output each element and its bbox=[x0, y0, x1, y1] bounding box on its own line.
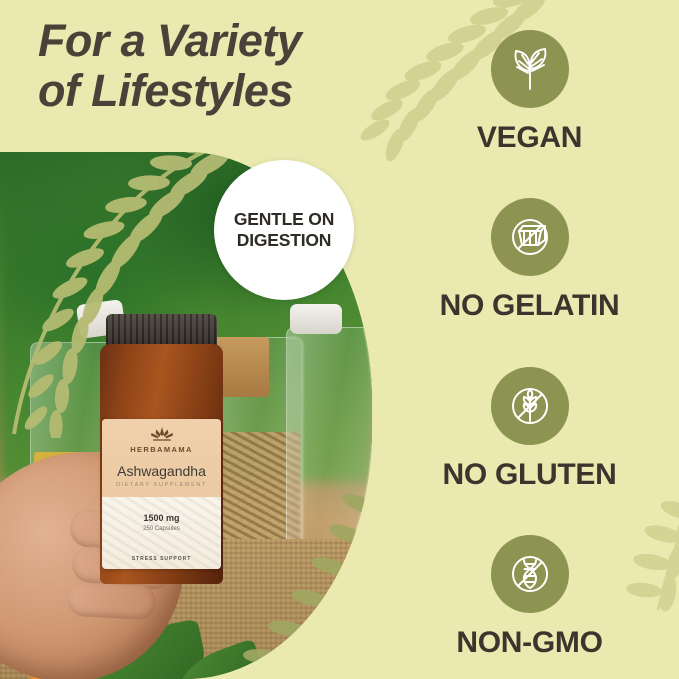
feature-badge-no-gluten bbox=[491, 367, 569, 445]
label-capsule-count: 250 Capsules bbox=[102, 526, 221, 532]
headline-line-2: of Lifestyles bbox=[38, 66, 368, 116]
gentle-on-digestion-badge: GENTLE ON DIGESTION bbox=[214, 160, 354, 300]
poster: For a Variety of Lifestyles bbox=[0, 0, 679, 679]
feature-label-no-gelatin: NO GELATIN bbox=[440, 289, 620, 323]
feature-no-gelatin: NO GELATIN bbox=[440, 198, 620, 323]
jar-stopper bbox=[290, 304, 342, 334]
feature-badge-non-gmo bbox=[491, 535, 569, 613]
feature-label-non-gmo: NON-GMO bbox=[456, 626, 602, 660]
feature-list: VEGAN NO GELATIN bbox=[380, 30, 679, 660]
no-gelatin-icon bbox=[505, 212, 555, 262]
headline-line-1: For a Variety bbox=[38, 16, 368, 66]
bottle-label: HERBAMAMA Ashwagandha DIETARY SUPPLEMENT… bbox=[102, 419, 221, 569]
label-product-name: Ashwagandha bbox=[102, 463, 221, 479]
badge-line-2: DIGESTION bbox=[234, 230, 334, 251]
feature-label-no-gluten: NO GLUTEN bbox=[443, 458, 617, 492]
label-brand: HERBAMAMA bbox=[102, 445, 221, 454]
feature-label-vegan: VEGAN bbox=[477, 121, 582, 155]
no-wheat-icon bbox=[505, 381, 555, 431]
feature-non-gmo: NON-GMO bbox=[456, 535, 602, 660]
label-dose: 1500 mg bbox=[102, 513, 221, 523]
no-dna-icon bbox=[505, 549, 555, 599]
two-leaves-icon bbox=[506, 45, 554, 93]
page-title: For a Variety of Lifestyles bbox=[38, 16, 368, 117]
label-subtitle: DIETARY SUPPLEMENT bbox=[102, 482, 221, 488]
leaf-branch-icon bbox=[210, 482, 372, 679]
finger bbox=[67, 582, 157, 621]
feature-vegan: VEGAN bbox=[477, 30, 582, 155]
label-support-claim: STRESS SUPPORT bbox=[102, 556, 221, 562]
badge-line-1: GENTLE ON bbox=[234, 209, 334, 230]
feature-badge-vegan bbox=[491, 30, 569, 108]
badge-text: GENTLE ON DIGESTION bbox=[234, 209, 334, 252]
feature-badge-no-gelatin bbox=[491, 198, 569, 276]
leaf-wreath-icon bbox=[0, 152, 240, 438]
feature-no-gluten: NO GLUTEN bbox=[443, 367, 617, 492]
